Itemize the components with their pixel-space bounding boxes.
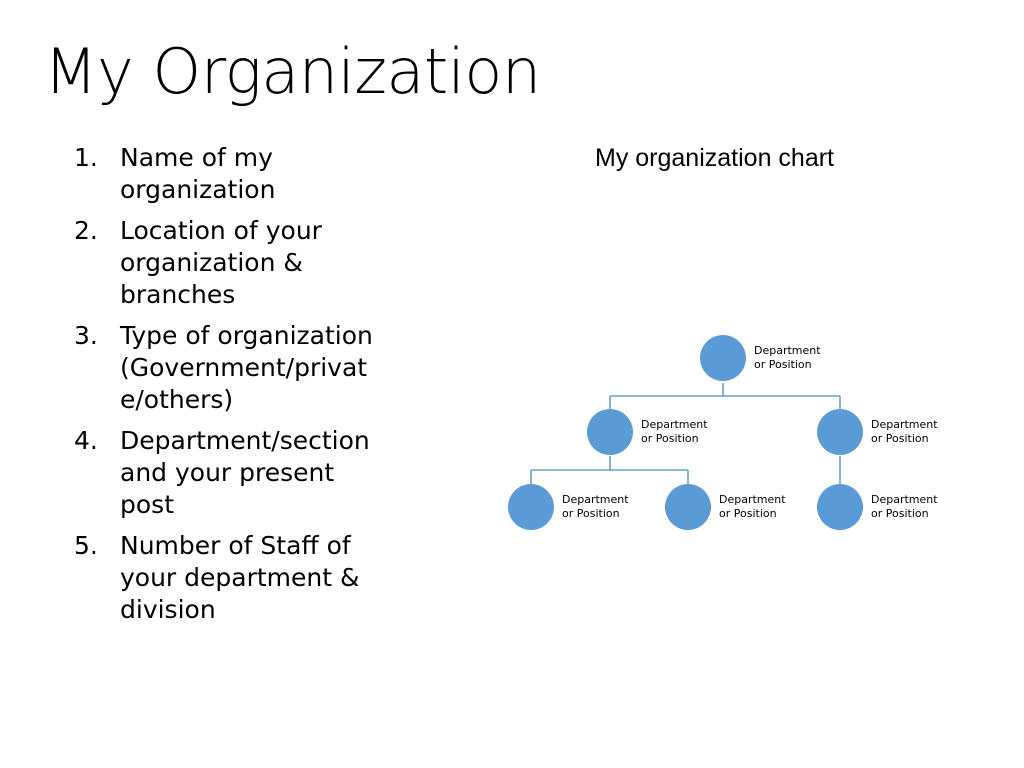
list-item-number: 3. xyxy=(62,320,120,352)
org-node-level3-middle: Department or Position xyxy=(665,484,786,530)
org-node-label-line1: Department xyxy=(754,344,821,358)
org-chart: Department or Position Department or Pos… xyxy=(495,325,975,545)
list-item-number: 2. xyxy=(62,215,120,247)
org-node-label-line1: Department xyxy=(562,493,629,507)
org-node-label: Department or Position xyxy=(641,418,708,446)
org-node-label: Department or Position xyxy=(562,493,629,521)
org-node-circle xyxy=(665,484,711,530)
list-item-number: 1. xyxy=(62,142,120,174)
org-node-level2-left: Department or Position xyxy=(587,409,708,455)
numbered-list: 1. Name of my organization 2. Location o… xyxy=(62,142,392,635)
org-node-circle xyxy=(817,409,863,455)
org-node-label-line2: or Position xyxy=(754,358,821,372)
list-item-number: 5. xyxy=(62,530,120,562)
org-chart-heading: My organization chart xyxy=(595,143,834,173)
list-item-text: Type of organization (Government/privat … xyxy=(120,320,392,416)
slide-canvas: My Organization 1. Name of my organizati… xyxy=(0,0,1024,768)
org-node-label-line2: or Position xyxy=(871,432,938,446)
org-node-label: Department or Position xyxy=(754,344,821,372)
list-item-number: 4. xyxy=(62,425,120,457)
list-item: 2. Location of your organization & branc… xyxy=(62,215,392,311)
org-node-label-line1: Department xyxy=(719,493,786,507)
org-node-label: Department or Position xyxy=(871,418,938,446)
org-node-circle xyxy=(817,484,863,530)
org-node-label: Department or Position xyxy=(871,493,938,521)
list-item-text: Department/section and your present post xyxy=(120,425,392,521)
list-item-text: Location of your organization & branches xyxy=(120,215,392,311)
org-node-label-line1: Department xyxy=(871,418,938,432)
org-node-level3-right: Department or Position xyxy=(817,484,938,530)
list-item-text: Name of my organization xyxy=(120,142,392,206)
list-item-text: Number of Staff of your department & div… xyxy=(120,530,392,626)
org-node-circle xyxy=(700,335,746,381)
org-node-label-line1: Department xyxy=(641,418,708,432)
org-node-label-line2: or Position xyxy=(719,507,786,521)
page-title: My Organization xyxy=(44,38,541,106)
org-node-level3-left: Department or Position xyxy=(508,484,629,530)
list-item: 1. Name of my organization xyxy=(62,142,392,206)
org-node-label-line2: or Position xyxy=(641,432,708,446)
org-node-circle xyxy=(587,409,633,455)
list-item: 5. Number of Staff of your department & … xyxy=(62,530,392,626)
org-node-label: Department or Position xyxy=(719,493,786,521)
list-item: 3. Type of organization (Government/priv… xyxy=(62,320,392,416)
list-item: 4. Department/section and your present p… xyxy=(62,425,392,521)
org-node-circle xyxy=(508,484,554,530)
org-node-root: Department or Position xyxy=(700,335,821,381)
org-node-level2-right: Department or Position xyxy=(817,409,938,455)
org-node-label-line2: or Position xyxy=(562,507,629,521)
org-node-label-line1: Department xyxy=(871,493,938,507)
org-node-label-line2: or Position xyxy=(871,507,938,521)
